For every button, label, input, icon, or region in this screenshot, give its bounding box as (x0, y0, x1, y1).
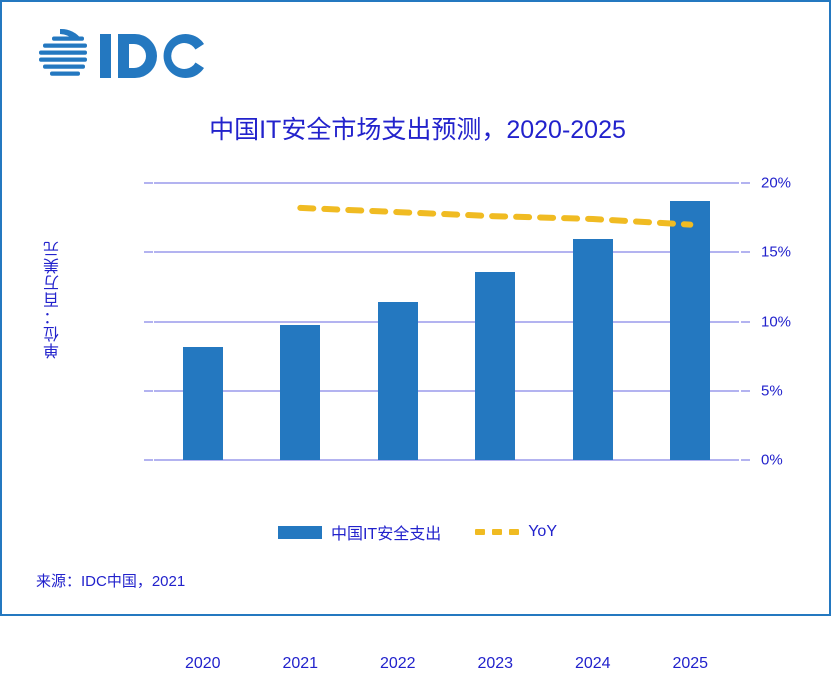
x-axis-tick-label: 2021 (255, 655, 345, 673)
slide-canvas: 中国IT安全市场支出预测，2020-2025 单位：百万美元 00%5,0005… (0, 0, 831, 616)
y-axis-tick-mark (144, 251, 153, 253)
legend-bar-swatch-icon (278, 526, 322, 539)
x-axis-tick-label: 2020 (158, 655, 248, 673)
legend-label-yoy: YoY (528, 523, 557, 541)
source-note: 来源：IDC中国，2021 (36, 570, 185, 591)
y-axis-title: 单位：百万美元 (42, 240, 68, 359)
y2-axis-tick-mark (741, 390, 750, 392)
y2-axis-tick-mark (741, 251, 750, 253)
yoy-line-series (154, 183, 739, 460)
y2-axis-tick-label: 5% (761, 382, 783, 399)
y2-axis-tick-mark (741, 321, 750, 323)
y2-axis-tick-mark (741, 459, 750, 461)
chart-legend: 中国IT安全支出 YoY (2, 520, 831, 544)
y2-axis-tick-label: 20% (761, 175, 791, 192)
idc-logo (34, 26, 214, 82)
x-axis-tick-label: 2024 (548, 655, 638, 673)
yoy-dashed-line (300, 208, 690, 225)
idc-logo-graphic (34, 26, 214, 82)
legend-label-spending: 中国IT安全支出 (331, 520, 441, 544)
x-axis-tick-label: 2023 (450, 655, 540, 673)
x-axis-tick-label: 2022 (353, 655, 443, 673)
legend-dashed-line-swatch-icon (475, 529, 519, 535)
legend-item-yoy[interactable]: YoY (475, 523, 557, 541)
x-axis-tick-label: 2025 (645, 655, 735, 673)
y-axis-tick-mark (144, 182, 153, 184)
plot-area: 00%5,0005%10,00010%15,00015%20,00020%202… (154, 183, 739, 460)
y2-axis-tick-label: 15% (761, 244, 791, 261)
y-axis-tick-mark (144, 321, 153, 323)
page-title: 中国IT安全市场支出预测，2020-2025 (2, 110, 831, 146)
legend-item-spending[interactable]: 中国IT安全支出 (278, 520, 441, 544)
y2-axis-tick-label: 10% (761, 313, 791, 330)
y-axis-tick-mark (144, 390, 153, 392)
y-axis-tick-mark (144, 459, 153, 461)
y2-axis-tick-mark (741, 182, 750, 184)
y2-axis-tick-label: 0% (761, 452, 783, 469)
